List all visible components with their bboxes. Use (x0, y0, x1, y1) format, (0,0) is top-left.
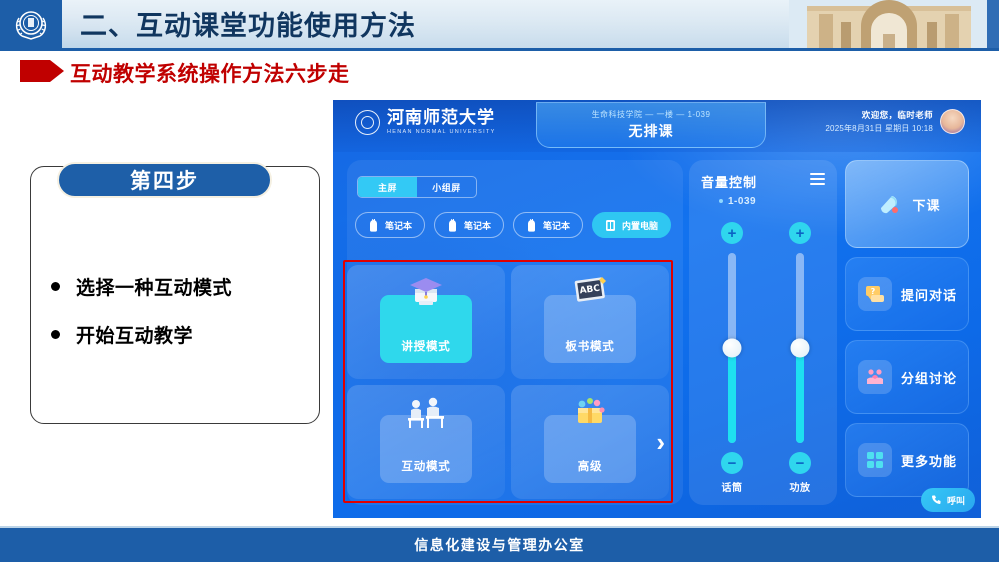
university-logo: 河南师范大学 HENAN NORMAL UNIVERSITY (355, 110, 496, 135)
volume-control-panel: 音量控制 1-039 + − 话筒 + − 功放 (689, 160, 837, 505)
bullet-dot-icon (51, 282, 60, 291)
source-chip-label: 内置电脑 (622, 219, 658, 232)
slide-banner: 二、互动课堂功能使用方法 (0, 0, 999, 48)
plus-icon[interactable]: + (721, 222, 743, 244)
room-status-plate: 生命科技学院 — 一楼 — 1-039 无排课 (536, 102, 766, 148)
step-bullet-text: 开始互动教学 (76, 321, 193, 348)
user-greeting: 欢迎您，临时老师 (862, 109, 933, 121)
built-in-pc-icon (605, 219, 616, 232)
mode-card-interactive[interactable]: 互动模式 (347, 385, 505, 499)
question-chat-icon: ? (858, 277, 892, 311)
mode-card-advanced-body[interactable]: 高级 (544, 415, 636, 483)
campus-gate-photo (789, 0, 989, 48)
mortarboard-icon (402, 271, 450, 313)
chevron-right-icon[interactable]: › (656, 429, 665, 455)
screen-target-segmented-control[interactable]: 主屏 小组屏 (357, 176, 477, 198)
laptop-plug-icon (526, 219, 537, 232)
step-badge-label: 第四步 (130, 165, 199, 195)
page-title: 二、互动课堂功能使用方法 (80, 4, 416, 43)
source-chip-label: 笔记本 (543, 219, 570, 232)
more-functions-button[interactable]: 更多功能 (845, 423, 969, 497)
slider-label: 功放 (790, 479, 811, 494)
red-arrow-icon (20, 60, 50, 82)
mode-card-lecture[interactable]: 讲授模式 (347, 265, 505, 379)
slider-track[interactable] (796, 253, 804, 443)
source-chip-label: 笔记本 (464, 219, 491, 232)
bell-icon (873, 189, 903, 219)
minus-icon[interactable]: − (721, 452, 743, 474)
input-source-chip-list: 笔记本 笔记本 笔记本 内置电脑 (355, 212, 671, 238)
room-location-text: 生命科技学院 — 一楼 — 1-039 (592, 109, 711, 120)
step-bullet-list: 选择一种互动模式 开始互动教学 (51, 273, 301, 369)
step-badge: 第四步 (57, 162, 272, 198)
action-label: 下课 (912, 195, 940, 214)
action-label: 分组讨论 (901, 368, 957, 387)
abc-blackboard-icon: ABC (566, 271, 614, 313)
bullet-dot-icon (51, 330, 60, 339)
action-button-column: 下课 ? 提问对话 (845, 160, 969, 506)
slider-track[interactable] (728, 253, 736, 443)
question-dialog-button[interactable]: ? 提问对话 (845, 257, 969, 331)
call-support-button[interactable]: 呼叫 (921, 488, 975, 512)
slide-root: 二、互动课堂功能使用方法 互动教学系统操作方法六步走 选择一种互动模式 开始互动… (0, 0, 999, 562)
end-class-button[interactable]: 下课 (845, 160, 969, 248)
source-chip-laptop-1[interactable]: 笔记本 (355, 212, 425, 238)
source-chip-label: 笔记本 (385, 219, 412, 232)
laptop-plug-icon (447, 219, 458, 232)
list-item: 开始互动教学 (51, 321, 301, 348)
footer-text: 信息化建设与管理办公室 (414, 535, 585, 555)
university-seal-icon (355, 110, 380, 135)
mode-card-lecture-body[interactable]: 讲授模式 (380, 295, 472, 363)
banner-underline (0, 48, 999, 51)
university-name-cn: 河南师范大学 (387, 110, 496, 127)
slider-label: 话筒 (722, 479, 743, 494)
volume-slider-microphone[interactable]: + − 话筒 (707, 222, 757, 494)
slide-footer: 信息化建设与管理办公室 (0, 528, 999, 562)
call-button-label: 呼叫 (947, 494, 965, 507)
mode-card-interactive-body[interactable]: 互动模式 (380, 415, 472, 483)
group-discussion-icon (858, 360, 892, 394)
mode-card-label: 互动模式 (401, 458, 450, 474)
step-card: 选择一种互动模式 开始互动教学 (30, 166, 320, 424)
list-item: 选择一种互动模式 (51, 273, 301, 300)
source-chip-laptop-3[interactable]: 笔记本 (513, 212, 583, 238)
volume-panel-title: 音量控制 (701, 172, 757, 191)
university-emblem-icon (11, 4, 51, 44)
hamburger-menu-icon[interactable] (810, 173, 825, 188)
slider-knob[interactable] (791, 339, 810, 358)
mode-card-label: 高级 (578, 458, 603, 474)
banner-right-accent (987, 0, 999, 48)
volume-room-label: 1-039 (719, 196, 756, 207)
action-label: 提问对话 (901, 285, 957, 304)
mode-card-label: 板书模式 (565, 338, 614, 354)
gift-box-icon (566, 391, 614, 433)
slider-knob[interactable] (723, 339, 742, 358)
laptop-plug-icon (368, 219, 379, 232)
university-name-en: HENAN NORMAL UNIVERSITY (387, 129, 496, 135)
user-avatar-icon[interactable] (940, 109, 965, 134)
action-label: 更多功能 (901, 451, 957, 470)
tab-group-screen[interactable]: 小组屏 (417, 177, 476, 197)
plus-icon[interactable]: + (789, 222, 811, 244)
red-arrow-head-icon (50, 60, 64, 82)
svg-text:?: ? (871, 287, 876, 296)
source-chip-laptop-2[interactable]: 笔记本 (434, 212, 504, 238)
source-chip-built-in-pc[interactable]: 内置电脑 (592, 212, 671, 238)
step-bullet-text: 选择一种互动模式 (76, 273, 232, 300)
students-desk-icon (402, 391, 450, 433)
phone-icon (931, 494, 942, 507)
room-schedule-status: 无排课 (629, 121, 674, 141)
mode-card-whiteboard-body[interactable]: ABC 板书模式 (544, 295, 636, 363)
teaching-mode-grid: 讲授模式 ABC 板书模式 (347, 265, 669, 499)
mode-card-label: 讲授模式 (401, 338, 450, 354)
group-discussion-button[interactable]: 分组讨论 (845, 340, 969, 414)
user-datetime: 2025年8月31日 星期日 10:18 (825, 123, 933, 134)
mode-card-advanced[interactable]: 高级 › (511, 385, 669, 499)
panel-header: 河南师范大学 HENAN NORMAL UNIVERSITY 生命科技学院 — … (333, 100, 981, 152)
section-subtitle: 互动教学系统操作方法六步走 (70, 58, 350, 88)
classroom-control-panel-screenshot: 河南师范大学 HENAN NORMAL UNIVERSITY 生命科技学院 — … (333, 100, 981, 518)
university-emblem-box (0, 0, 62, 48)
mode-card-whiteboard[interactable]: ABC 板书模式 (511, 265, 669, 379)
user-info[interactable]: 欢迎您，临时老师 2025年8月31日 星期日 10:18 (825, 109, 965, 134)
tab-main-screen[interactable]: 主屏 (358, 177, 417, 197)
minus-icon[interactable]: − (789, 452, 811, 474)
volume-slider-amplifier[interactable]: + − 功放 (775, 222, 825, 494)
grid-apps-icon (858, 443, 892, 477)
